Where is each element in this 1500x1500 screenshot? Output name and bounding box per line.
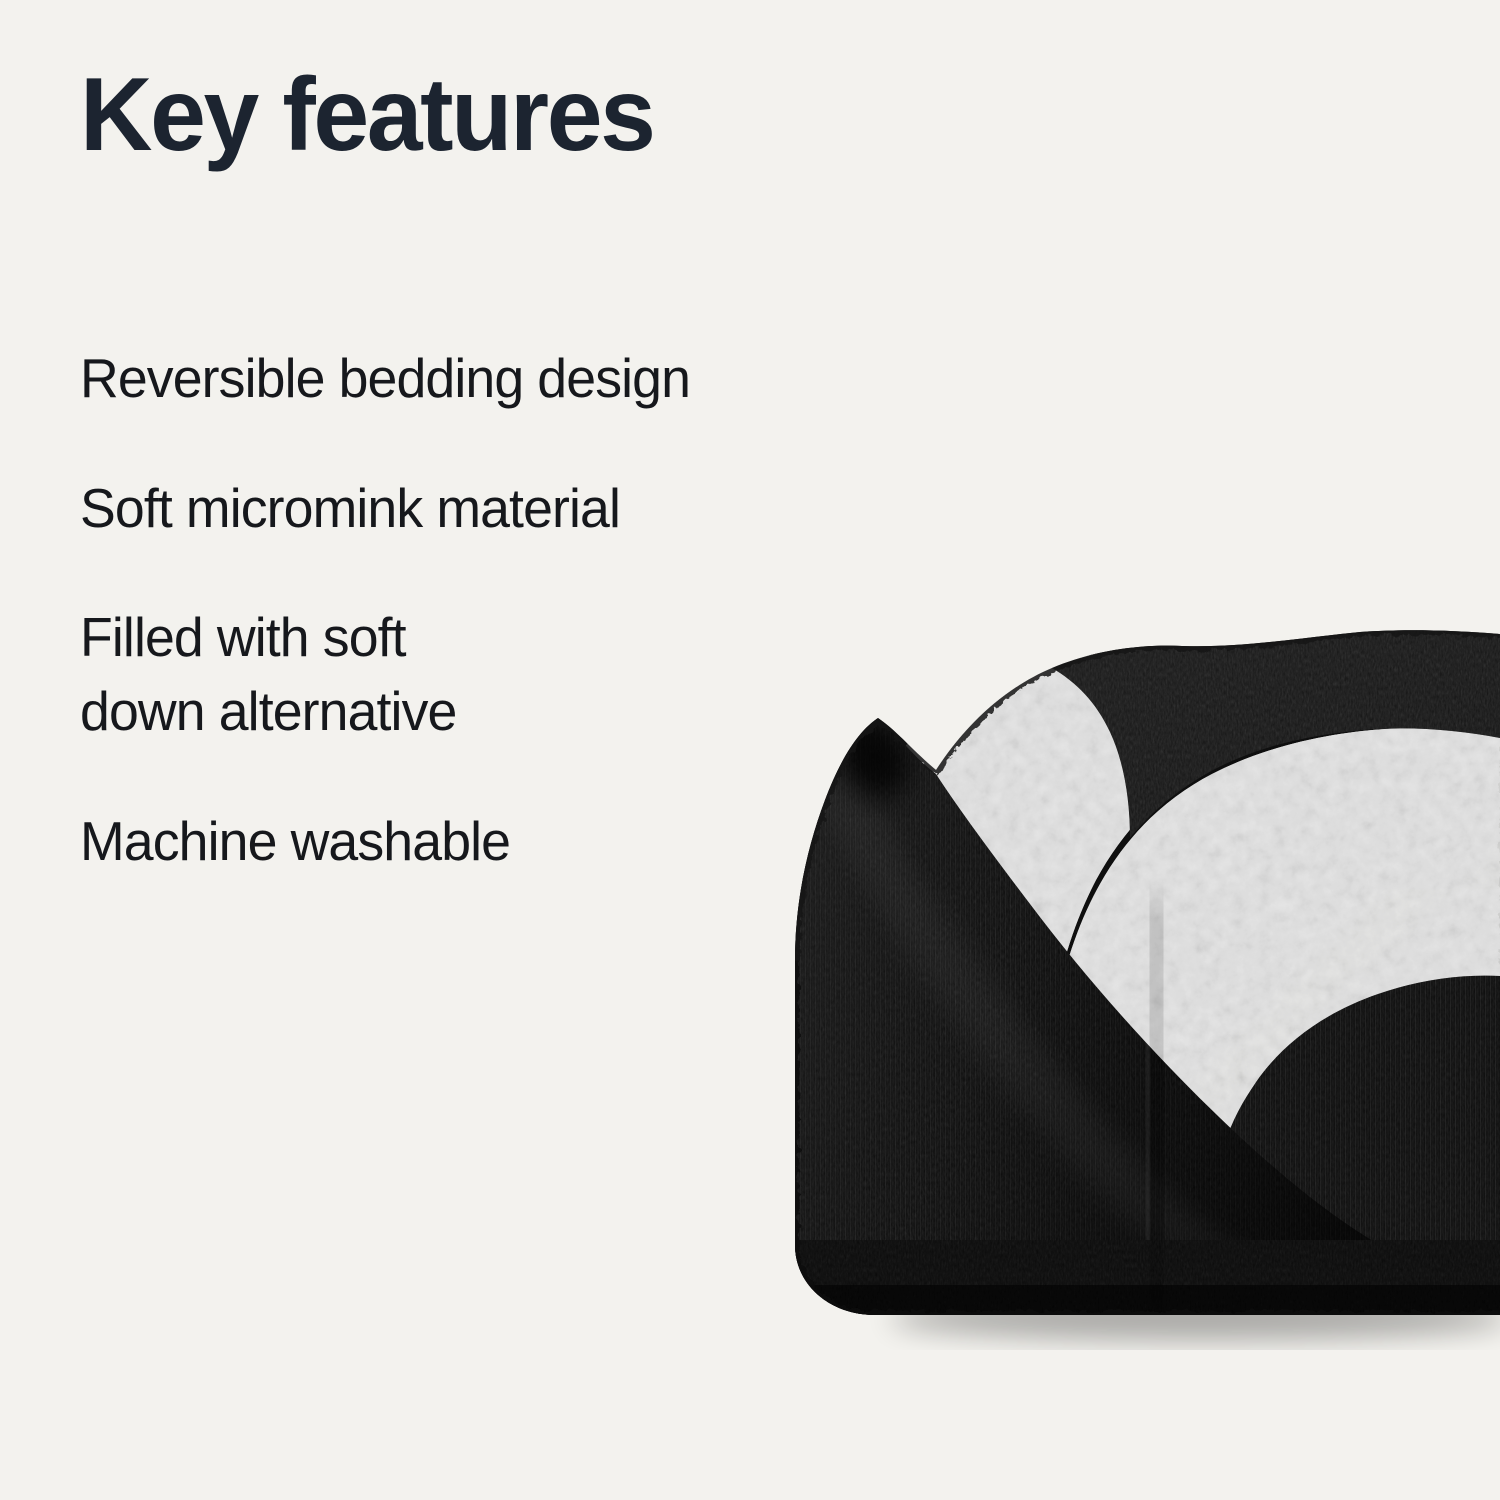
feature-item-reversible-bedding-design: Reversible bedding design bbox=[80, 342, 821, 416]
features-list: Reversible bedding design Soft micromink… bbox=[80, 342, 840, 878]
page-title: Key features bbox=[80, 60, 813, 170]
text-column: Key features Reversible bedding design S… bbox=[80, 60, 840, 170]
feature-item-filled-with-soft-down-alternative: Filled with soft down alternative bbox=[80, 601, 821, 748]
feature-item-soft-micromink-material: Soft micromink material bbox=[80, 472, 821, 546]
feature-item-machine-washable: Machine washable bbox=[80, 805, 821, 879]
key-features-page: Key features Reversible bedding design S… bbox=[0, 0, 1500, 1500]
